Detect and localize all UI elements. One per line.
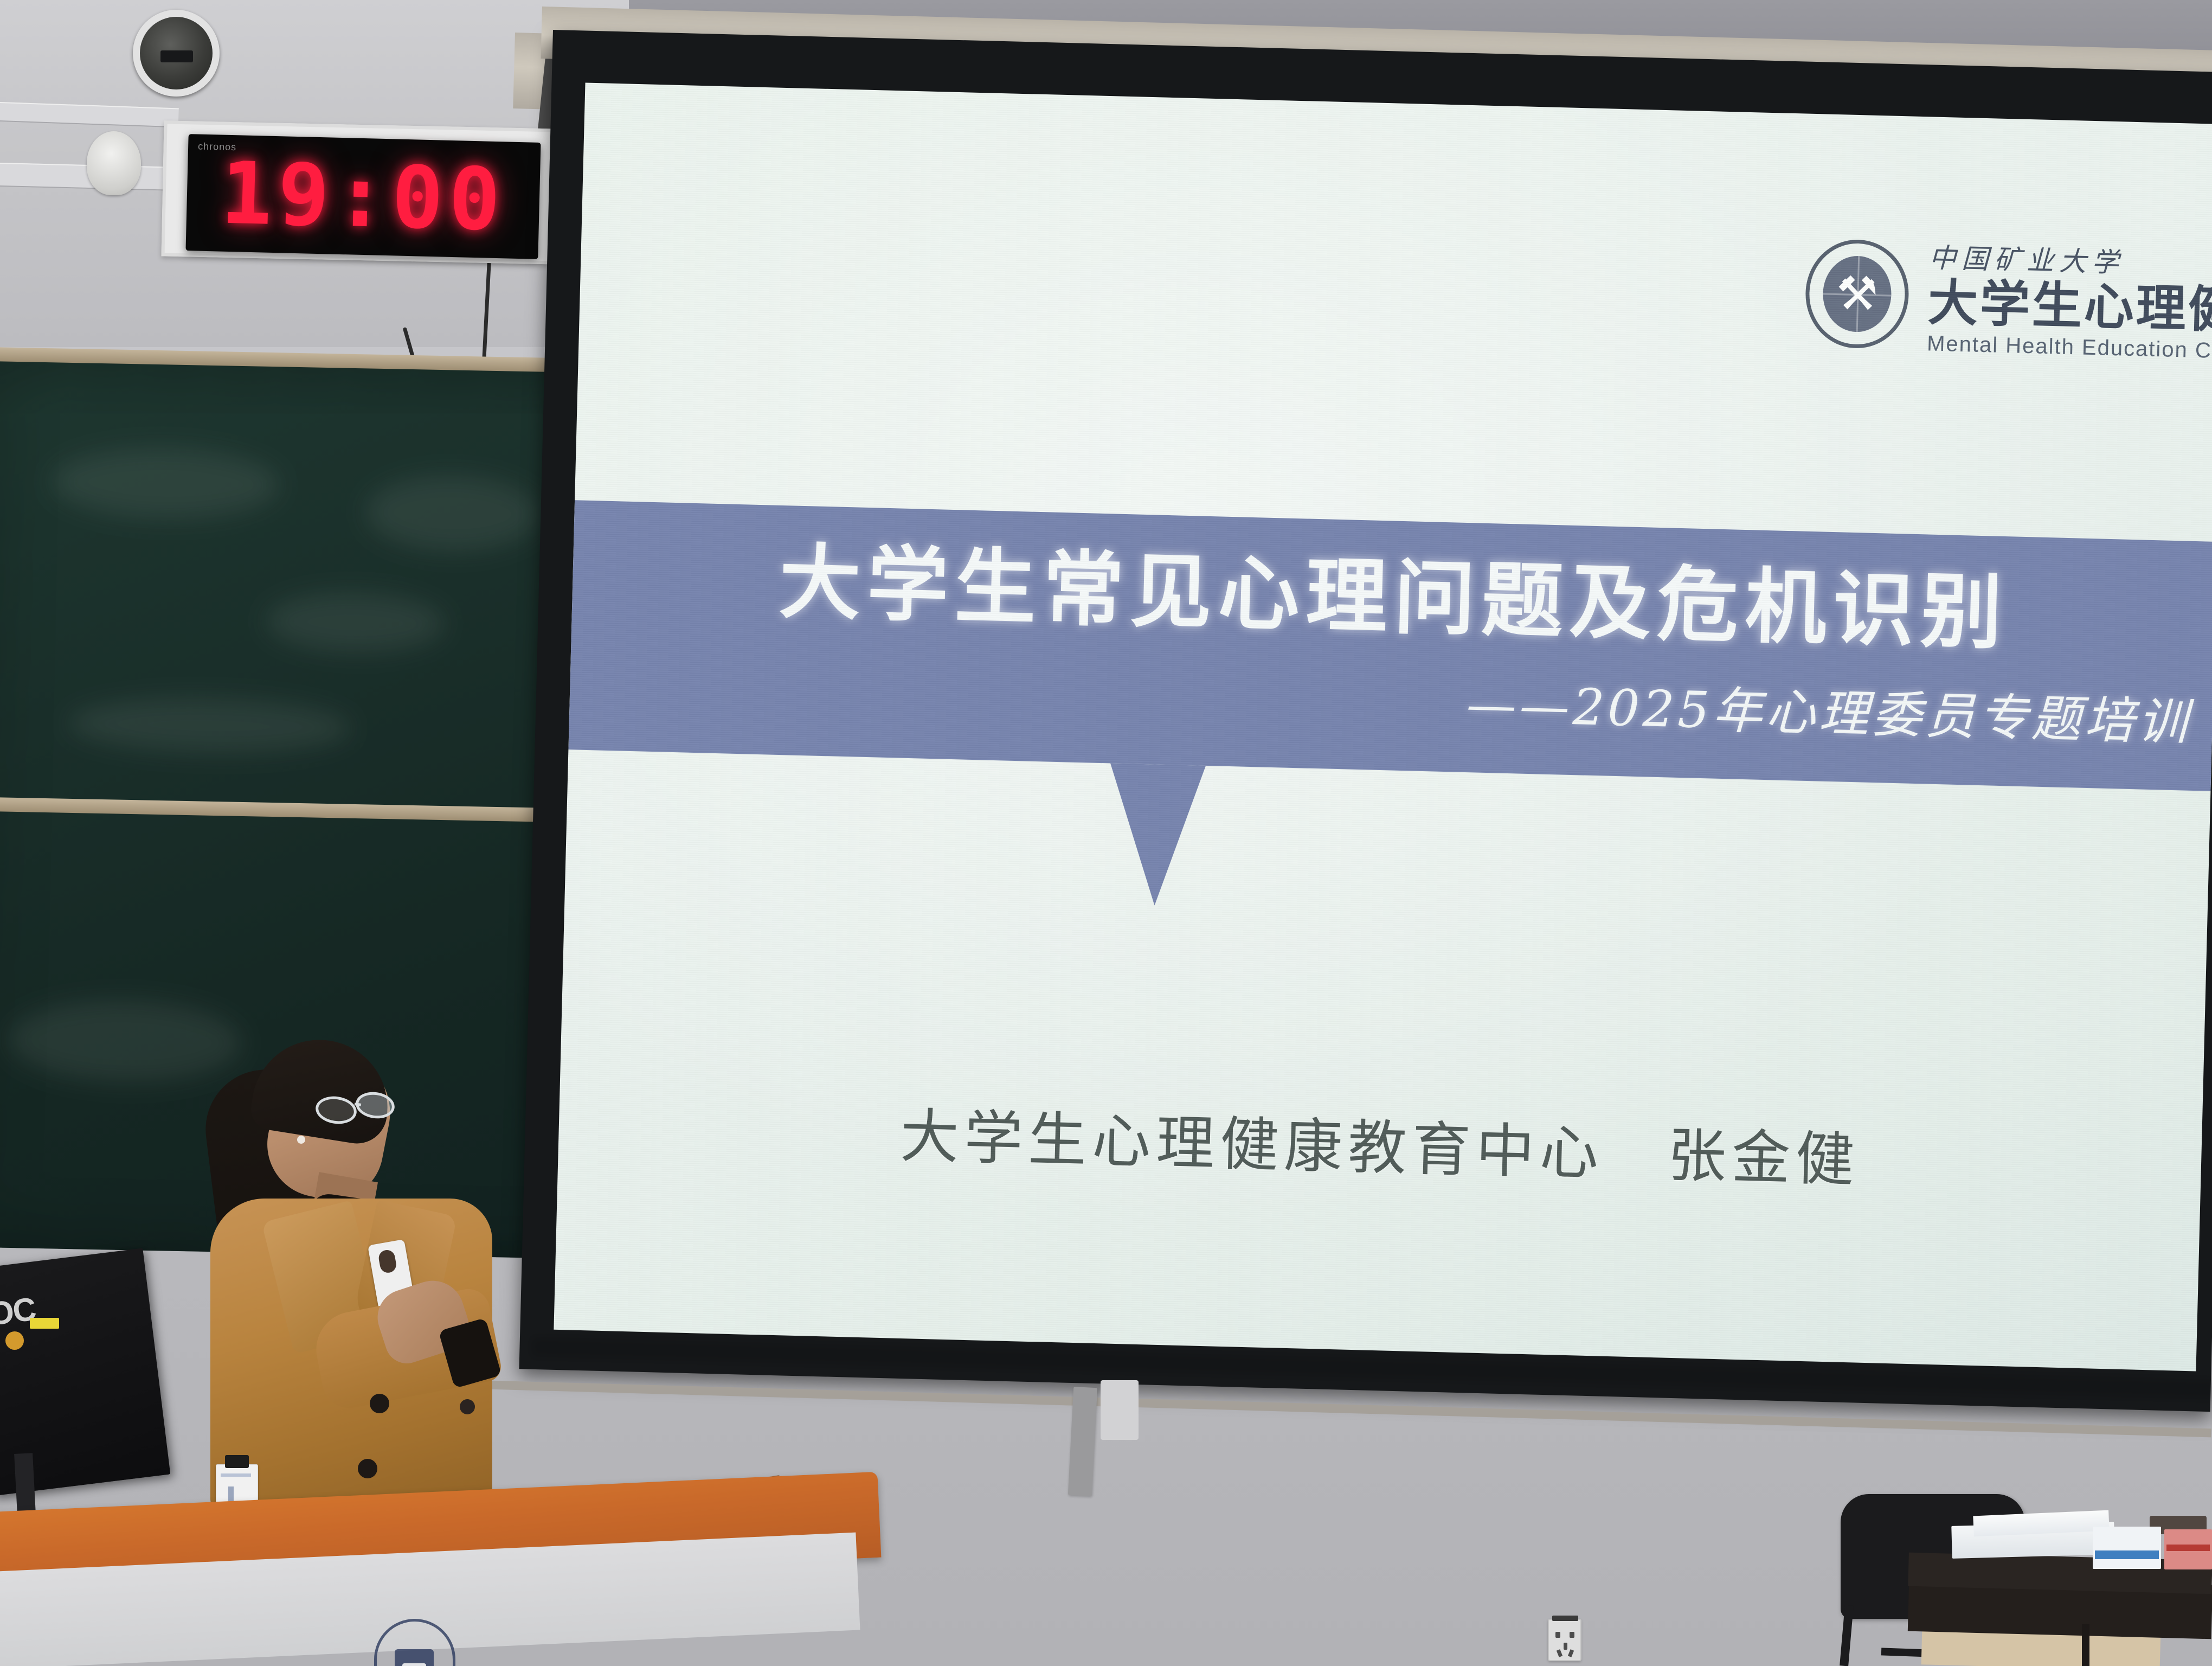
outlet-slot xyxy=(1570,1632,1574,1638)
badge-stripe xyxy=(221,1473,251,1477)
outlet-slot xyxy=(1568,1649,1574,1657)
seal-glyph: ⚒ xyxy=(1836,270,1879,318)
box-label-band xyxy=(2095,1550,2159,1559)
box-label-band xyxy=(2166,1545,2210,1551)
speaker-slot xyxy=(160,50,193,62)
badge-clip xyxy=(225,1455,249,1468)
monitor-arm-sticker xyxy=(30,1318,59,1329)
monitor-brand-label: AOC xyxy=(0,1290,37,1336)
presentation-slide: ⚒ 中国矿业大学 大学生心理健康教育 Mental Health Educati… xyxy=(554,83,2212,1372)
red-box xyxy=(2164,1529,2212,1569)
slide-band-v-notch xyxy=(1107,763,1206,906)
university-logo-lockup: ⚒ 中国矿业大学 大学生心理健康教育 Mental Health Educati… xyxy=(1804,233,2212,368)
outlet-top-trim xyxy=(1552,1616,1578,1621)
phone-camera-icon xyxy=(377,1249,397,1274)
screen-mount-plate xyxy=(1101,1380,1139,1440)
emblem-core xyxy=(395,1649,434,1666)
table-leg xyxy=(2082,1624,2089,1666)
monitor-arm-knob xyxy=(5,1331,24,1350)
clock-brand-label: chronos xyxy=(198,141,237,153)
logo-center-name-cn: 大学生心理健康教育 xyxy=(1927,277,2212,340)
coat-cuff-button xyxy=(460,1399,475,1414)
classroom-photo-scene: chronos 19:00 ⚒ 中国矿业大学 xyxy=(0,0,2212,1666)
presenter-earring xyxy=(297,1136,305,1144)
outlet-slot xyxy=(1564,1643,1567,1650)
coat-button xyxy=(358,1459,377,1478)
presenter-person xyxy=(201,1020,504,1508)
digital-wall-clock: chronos 19:00 xyxy=(185,134,541,259)
outlet-slot xyxy=(1557,1649,1562,1657)
university-seal-icon: ⚒ xyxy=(1804,239,1910,350)
logo-text-block: 中国矿业大学 大学生心理健康教育 Mental Health Education… xyxy=(1927,236,2212,368)
seal-inner-globe: ⚒ xyxy=(1822,255,1893,333)
power-outlet xyxy=(1548,1619,1581,1661)
ceiling-light-fixture xyxy=(87,131,141,195)
presenter-hair-top xyxy=(248,1030,397,1148)
projection-screen: ⚒ 中国矿业大学 大学生心理健康教育 Mental Health Educati… xyxy=(519,30,2212,1412)
outlet-slot xyxy=(1555,1632,1560,1638)
white-box xyxy=(2093,1527,2161,1569)
ceiling-speaker-icon xyxy=(133,10,220,97)
clock-time-display: 19:00 xyxy=(220,150,506,243)
slide-presenter-line: 大学生心理健康教育中心 张金健 xyxy=(558,1080,2202,1207)
coat-button xyxy=(370,1394,389,1413)
podium-university-emblem-icon xyxy=(374,1619,455,1666)
